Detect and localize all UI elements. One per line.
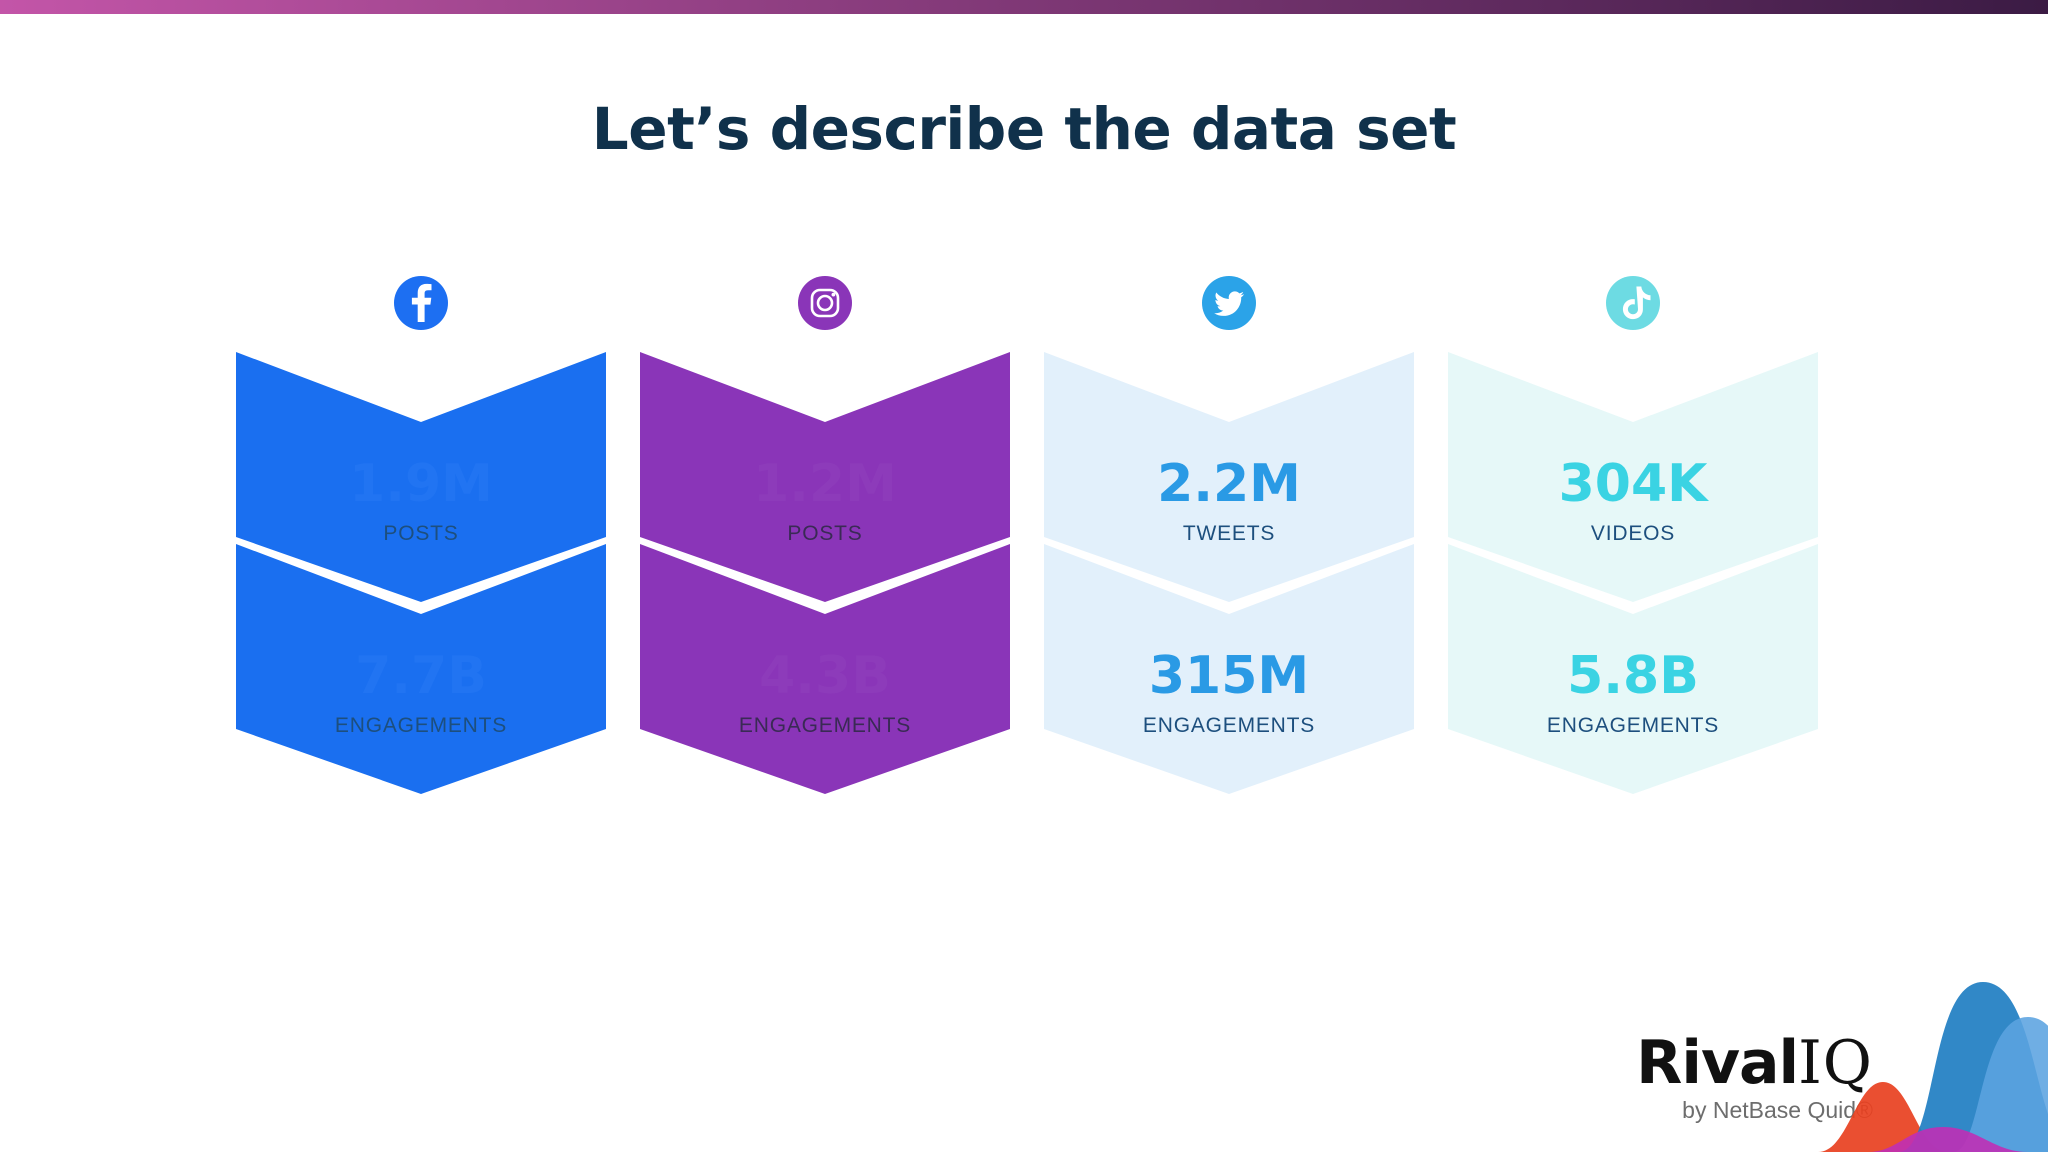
stat-column-twitter: 2.2M TWEETS 315M ENGAGEMENTS — [1044, 268, 1414, 928]
stat-value: 7.7B — [355, 650, 487, 702]
tiktok-icon[interactable] — [1598, 268, 1668, 338]
stat-column-facebook: 1.9M POSTS 7.7B ENGAGEMENTS — [236, 268, 606, 928]
stat-value: 315M — [1149, 650, 1309, 702]
stats-columns: 1.9M POSTS 7.7B ENGAGEMENTS — [0, 268, 2048, 928]
chevron-segment-posts: 1.9M POSTS — [236, 352, 606, 602]
logo-name-bold: Rival — [1636, 1028, 1798, 1098]
stat-label: ENGAGEMENTS — [739, 714, 911, 738]
slide-canvas: Let’s describe the data set 1.9M POSTS 7… — [0, 0, 2048, 1152]
stat-label: POSTS — [383, 522, 458, 546]
facebook-icon[interactable] — [386, 268, 456, 338]
stat-label: ENGAGEMENTS — [1143, 714, 1315, 738]
stat-label: ENGAGEMENTS — [1547, 714, 1719, 738]
bell-curves-decoration — [1778, 922, 2048, 1152]
chevron-stack: 1.2M POSTS 4.3B ENGAGEMENTS — [640, 352, 1010, 912]
instagram-icon[interactable] — [790, 268, 860, 338]
top-gradient-bar — [0, 0, 2048, 14]
chevron-stack: 2.2M TWEETS 315M ENGAGEMENTS — [1044, 352, 1414, 912]
stat-column-instagram: 1.2M POSTS 4.3B ENGAGEMENTS — [640, 268, 1010, 928]
stat-value: 5.8B — [1567, 650, 1699, 702]
chevron-stack: 1.9M POSTS 7.7B ENGAGEMENTS — [236, 352, 606, 912]
stat-column-tiktok: 304K VIDEOS 5.8B ENGAGEMENTS — [1448, 268, 1818, 928]
chevron-segment-posts: 1.2M POSTS — [640, 352, 1010, 602]
stat-value: 4.3B — [759, 650, 891, 702]
chevron-stack: 304K VIDEOS 5.8B ENGAGEMENTS — [1448, 352, 1818, 912]
stat-label: POSTS — [787, 522, 862, 546]
twitter-icon[interactable] — [1194, 268, 1264, 338]
chevron-segment-videos: 304K VIDEOS — [1448, 352, 1818, 602]
page-title: Let’s describe the data set — [0, 95, 2048, 163]
stat-label: TWEETS — [1183, 522, 1275, 546]
stat-label: VIDEOS — [1591, 522, 1675, 546]
stat-value: 2.2M — [1157, 458, 1301, 510]
chevron-segment-tweets: 2.2M TWEETS — [1044, 352, 1414, 602]
stat-value: 1.2M — [753, 458, 897, 510]
stat-value: 1.9M — [349, 458, 493, 510]
stat-value: 304K — [1559, 458, 1708, 510]
stat-label: ENGAGEMENTS — [335, 714, 507, 738]
